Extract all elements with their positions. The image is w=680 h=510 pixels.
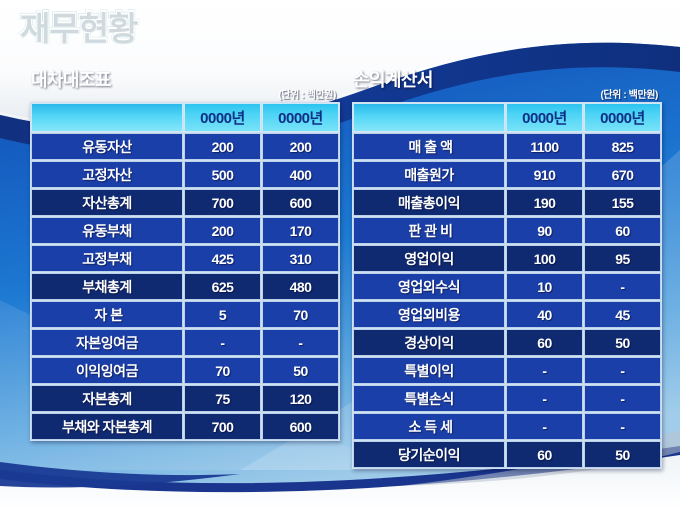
row-value-2: 600 bbox=[262, 413, 339, 440]
income-statement-panel: 손익계산서 (단위 : 백만원) 0000년0000년 매 출 액1100825… bbox=[352, 66, 660, 469]
row-value-2: 670 bbox=[584, 161, 661, 188]
table-row: 특별이익-- bbox=[353, 357, 661, 384]
row-label: 부채와 자본총계 bbox=[31, 413, 183, 440]
row-label: 영업외비용 bbox=[353, 301, 505, 328]
row-value-1: - bbox=[506, 413, 583, 440]
row-value-2: 600 bbox=[262, 189, 339, 216]
row-value-1: 10 bbox=[506, 273, 583, 300]
table-row: 고정부채425310 bbox=[31, 245, 339, 272]
table-row: 자본총계75120 bbox=[31, 385, 339, 412]
row-value-1: 190 bbox=[506, 189, 583, 216]
table-row: 고정자산500400 bbox=[31, 161, 339, 188]
balance-sheet-unit-label: (단위 : 백만원) bbox=[278, 86, 336, 101]
table-row: 영업외비용4045 bbox=[353, 301, 661, 328]
income-statement-title: 손익계산서 bbox=[353, 66, 433, 92]
row-label: 경상이익 bbox=[353, 329, 505, 356]
row-value-1: 5 bbox=[184, 301, 261, 328]
page-title: 재무현황 bbox=[20, 6, 137, 50]
slide-canvas: 재무현황 재무현황 대차대조표 (단위 : 백만원) 0000년0000년 유동… bbox=[0, 0, 680, 510]
table-row: 부채총계625480 bbox=[31, 273, 339, 300]
row-value-2: 120 bbox=[262, 385, 339, 412]
balance-sheet-title: 대차대조표 bbox=[31, 66, 111, 92]
table-row: 영업이익10095 bbox=[353, 245, 661, 272]
column-header-year-1: 0000년 bbox=[184, 103, 261, 132]
row-label: 유동자산 bbox=[31, 133, 183, 160]
table-row: 자본잉여금-- bbox=[31, 329, 339, 356]
row-label: 유동부채 bbox=[31, 217, 183, 244]
row-value-2: 400 bbox=[262, 161, 339, 188]
row-value-2: - bbox=[584, 273, 661, 300]
row-value-2: 50 bbox=[262, 357, 339, 384]
balance-sheet-table-head: 0000년0000년 bbox=[31, 103, 339, 132]
row-value-1: 625 bbox=[184, 273, 261, 300]
column-header-label bbox=[353, 103, 505, 132]
row-value-1: 90 bbox=[506, 217, 583, 244]
row-value-1: 75 bbox=[184, 385, 261, 412]
table-row: 소 득 세-- bbox=[353, 413, 661, 440]
row-label: 매출총이익 bbox=[353, 189, 505, 216]
row-label: 자본잉여금 bbox=[31, 329, 183, 356]
row-value-2: 50 bbox=[584, 441, 661, 468]
row-value-1: - bbox=[184, 329, 261, 356]
row-label: 영업이익 bbox=[353, 245, 505, 272]
balance-sheet-panel: 대차대조표 (단위 : 백만원) 0000년0000년 유동자산200200고정… bbox=[30, 66, 338, 441]
row-value-2: 155 bbox=[584, 189, 661, 216]
row-label: 매출원가 bbox=[353, 161, 505, 188]
balance-sheet-header: 대차대조표 (단위 : 백만원) bbox=[30, 66, 338, 102]
row-value-1: 40 bbox=[506, 301, 583, 328]
row-value-2: - bbox=[584, 385, 661, 412]
row-label: 영업외수식 bbox=[353, 273, 505, 300]
column-header-label bbox=[31, 103, 183, 132]
row-value-2: 170 bbox=[262, 217, 339, 244]
income-statement-table: 0000년0000년 매 출 액1100825매출원가910670매출총이익19… bbox=[352, 102, 662, 469]
table-header-row: 0000년0000년 bbox=[353, 103, 661, 132]
row-value-1: 700 bbox=[184, 189, 261, 216]
row-label: 고정자산 bbox=[31, 161, 183, 188]
table-row: 부채와 자본총계700600 bbox=[31, 413, 339, 440]
table-row: 매출원가910670 bbox=[353, 161, 661, 188]
table-row: 당기순이익6050 bbox=[353, 441, 661, 468]
row-value-2: 60 bbox=[584, 217, 661, 244]
table-row: 자 본570 bbox=[31, 301, 339, 328]
row-value-1: - bbox=[506, 385, 583, 412]
table-row: 유동부채200170 bbox=[31, 217, 339, 244]
row-label: 자산총계 bbox=[31, 189, 183, 216]
row-value-1: - bbox=[506, 357, 583, 384]
row-value-1: 500 bbox=[184, 161, 261, 188]
row-value-1: 1100 bbox=[506, 133, 583, 160]
row-value-2: 95 bbox=[584, 245, 661, 272]
table-row: 특별손식-- bbox=[353, 385, 661, 412]
row-value-2: 45 bbox=[584, 301, 661, 328]
row-value-2: - bbox=[262, 329, 339, 356]
table-row: 매출총이익190155 bbox=[353, 189, 661, 216]
row-label: 자 본 bbox=[31, 301, 183, 328]
row-value-1: 100 bbox=[506, 245, 583, 272]
row-label: 특별손식 bbox=[353, 385, 505, 412]
row-value-1: 910 bbox=[506, 161, 583, 188]
row-label: 특별이익 bbox=[353, 357, 505, 384]
table-row: 자산총계700600 bbox=[31, 189, 339, 216]
row-value-2: 200 bbox=[262, 133, 339, 160]
balance-sheet-table: 0000년0000년 유동자산200200고정자산500400자산총계70060… bbox=[30, 102, 340, 441]
balance-sheet-table-body: 유동자산200200고정자산500400자산총계700600유동부채200170… bbox=[31, 133, 339, 440]
row-value-2: 480 bbox=[262, 273, 339, 300]
row-label: 부채총계 bbox=[31, 273, 183, 300]
income-statement-header: 손익계산서 (단위 : 백만원) bbox=[352, 66, 660, 102]
income-statement-table-body: 매 출 액1100825매출원가910670매출총이익190155판 관 비90… bbox=[353, 133, 661, 468]
table-header-row: 0000년0000년 bbox=[31, 103, 339, 132]
table-row: 판 관 비9060 bbox=[353, 217, 661, 244]
row-value-2: 825 bbox=[584, 133, 661, 160]
income-statement-unit-label: (단위 : 백만원) bbox=[600, 86, 658, 101]
row-value-1: 700 bbox=[184, 413, 261, 440]
row-value-2: 310 bbox=[262, 245, 339, 272]
column-header-year-2: 0000년 bbox=[262, 103, 339, 132]
row-value-2: - bbox=[584, 413, 661, 440]
row-value-2: 50 bbox=[584, 329, 661, 356]
table-row: 경상이익6050 bbox=[353, 329, 661, 356]
row-value-2: 70 bbox=[262, 301, 339, 328]
row-value-1: 425 bbox=[184, 245, 261, 272]
row-value-1: 200 bbox=[184, 133, 261, 160]
table-row: 영업외수식10- bbox=[353, 273, 661, 300]
column-header-year-2: 0000년 bbox=[584, 103, 661, 132]
row-label: 매 출 액 bbox=[353, 133, 505, 160]
row-value-2: - bbox=[584, 357, 661, 384]
row-label: 이익잉여금 bbox=[31, 357, 183, 384]
table-row: 이익잉여금7050 bbox=[31, 357, 339, 384]
column-header-year-1: 0000년 bbox=[506, 103, 583, 132]
row-value-1: 70 bbox=[184, 357, 261, 384]
row-label: 고정부채 bbox=[31, 245, 183, 272]
income-statement-table-head: 0000년0000년 bbox=[353, 103, 661, 132]
row-label: 자본총계 bbox=[31, 385, 183, 412]
row-label: 당기순이익 bbox=[353, 441, 505, 468]
row-value-1: 60 bbox=[506, 329, 583, 356]
row-label: 판 관 비 bbox=[353, 217, 505, 244]
table-row: 매 출 액1100825 bbox=[353, 133, 661, 160]
row-value-1: 200 bbox=[184, 217, 261, 244]
table-row: 유동자산200200 bbox=[31, 133, 339, 160]
row-label: 소 득 세 bbox=[353, 413, 505, 440]
row-value-1: 60 bbox=[506, 441, 583, 468]
